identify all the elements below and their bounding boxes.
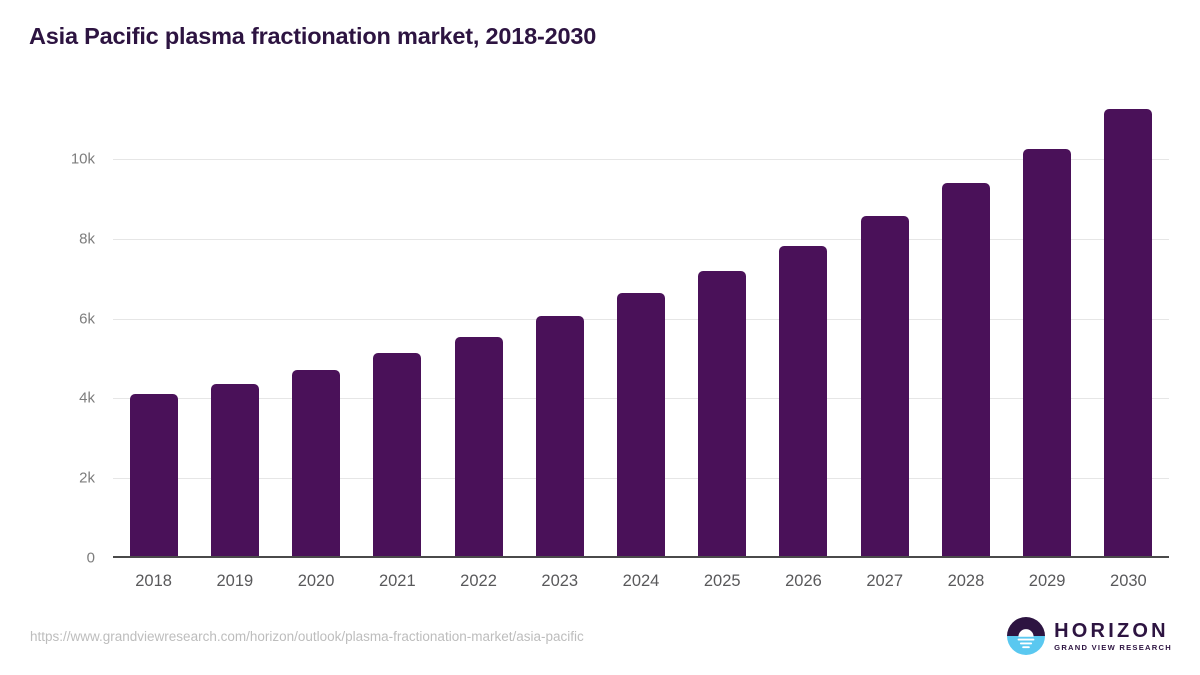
bar-2021[interactable] xyxy=(373,353,421,556)
bar-2030[interactable] xyxy=(1104,109,1152,556)
x-axis-tick-label: 2021 xyxy=(379,572,416,591)
page-title: Asia Pacific plasma fractionation market… xyxy=(29,23,596,50)
source-url[interactable]: https://www.grandviewresearch.com/horizo… xyxy=(30,629,584,644)
y-axis-tick-label: 10k xyxy=(0,151,95,168)
bar-2020[interactable] xyxy=(292,370,340,556)
horizon-sun-circle-icon xyxy=(1007,617,1045,655)
brand-name: HORIZON xyxy=(1054,621,1172,641)
x-axis-tick-label: 2018 xyxy=(135,572,172,591)
x-axis-tick-label: 2029 xyxy=(1029,572,1066,591)
brand-logo-text: HORIZON GRAND VIEW RESEARCH xyxy=(1054,621,1172,652)
chart-page: Asia Pacific plasma fractionation market… xyxy=(0,0,1200,675)
x-axis-tick-label: 2025 xyxy=(704,572,741,591)
bar-2019[interactable] xyxy=(211,384,259,556)
x-axis-line xyxy=(113,556,1169,558)
x-axis-tick-label: 2019 xyxy=(216,572,253,591)
x-axis-tick-label: 2026 xyxy=(785,572,822,591)
brand-logo: HORIZON GRAND VIEW RESEARCH xyxy=(1007,617,1172,655)
x-axis-tick-label: 2030 xyxy=(1110,572,1147,591)
bar-2027[interactable] xyxy=(861,216,909,556)
y-axis-tick-label: 4k xyxy=(0,390,95,407)
plot-area xyxy=(113,100,1169,558)
gridline xyxy=(113,239,1169,240)
bar-2022[interactable] xyxy=(455,337,503,556)
x-axis-tick-label: 2022 xyxy=(460,572,497,591)
y-axis-tick-label: 0 xyxy=(0,550,95,567)
bar-2023[interactable] xyxy=(536,316,584,556)
y-axis-tick-label: 2k xyxy=(0,470,95,487)
brand-tagline: GRAND VIEW RESEARCH xyxy=(1054,644,1172,652)
bar-2029[interactable] xyxy=(1023,149,1071,556)
x-axis-tick-label: 2024 xyxy=(623,572,660,591)
y-axis-tick-label: 8k xyxy=(0,230,95,247)
x-axis-tick-label: 2027 xyxy=(866,572,903,591)
bar-2028[interactable] xyxy=(942,183,990,556)
x-axis-tick-label: 2028 xyxy=(948,572,985,591)
bar-2026[interactable] xyxy=(779,246,827,556)
y-axis-tick-label: 6k xyxy=(0,310,95,327)
x-axis-tick-label: 2020 xyxy=(298,572,335,591)
bar-2024[interactable] xyxy=(617,293,665,556)
x-axis-tick-label: 2023 xyxy=(541,572,578,591)
bar-2018[interactable] xyxy=(130,394,178,556)
gridline xyxy=(113,159,1169,160)
bar-2025[interactable] xyxy=(698,271,746,556)
